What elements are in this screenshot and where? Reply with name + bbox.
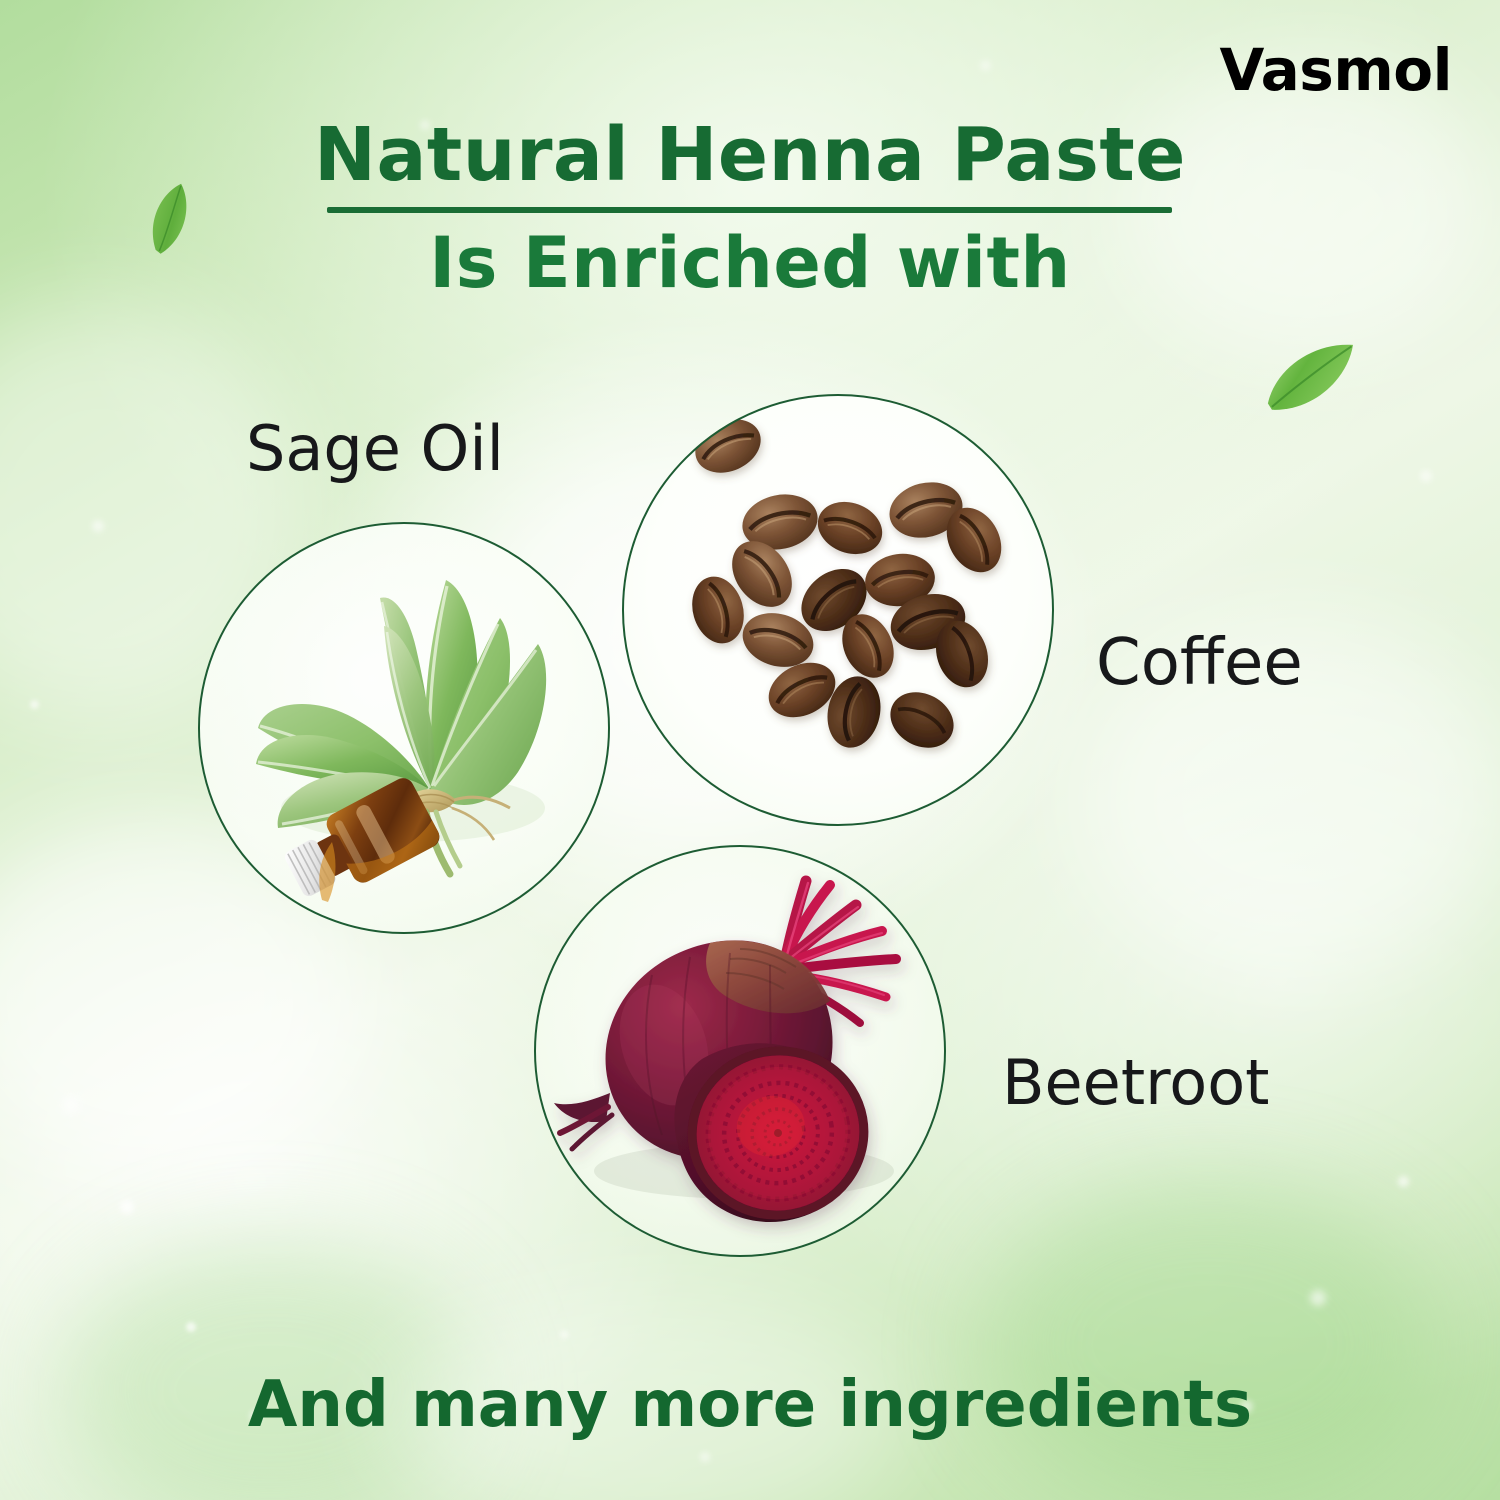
bokeh-speck <box>92 520 104 532</box>
beetroot-circle-outline <box>534 845 946 1257</box>
ingredient-label-sage-oil: Sage Oil <box>246 412 504 485</box>
sage-oil-circle-outline <box>198 522 610 934</box>
bokeh-speck <box>30 700 39 709</box>
bokeh-speck <box>120 1200 134 1214</box>
bokeh-speck <box>62 1096 80 1114</box>
title-underline-rule <box>327 207 1172 213</box>
poster-canvas: Vasmol Natural Henna Paste Is Enriched w… <box>0 0 1500 1500</box>
bg-blotch <box>1120 60 1500 360</box>
footer-text: And many more ingredients <box>0 1368 1500 1442</box>
bg-blotch <box>980 1180 1440 1500</box>
bokeh-speck <box>980 60 991 71</box>
bokeh-speck <box>700 1452 710 1462</box>
leaf-icon <box>1246 321 1379 442</box>
bokeh-speck <box>1420 470 1432 482</box>
page-title: Natural Henna Paste <box>0 112 1500 198</box>
bokeh-speck <box>1310 1290 1326 1306</box>
bokeh-speck <box>186 1322 196 1332</box>
ingredient-label-beetroot: Beetroot <box>1002 1046 1269 1119</box>
coffee-circle-outline <box>622 394 1054 826</box>
page-subtitle: Is Enriched with <box>0 222 1500 304</box>
ingredient-label-coffee: Coffee <box>1096 626 1303 700</box>
brand-logo: Vasmol <box>1219 36 1452 104</box>
bokeh-speck <box>560 1330 569 1339</box>
bokeh-speck <box>1398 1176 1409 1187</box>
